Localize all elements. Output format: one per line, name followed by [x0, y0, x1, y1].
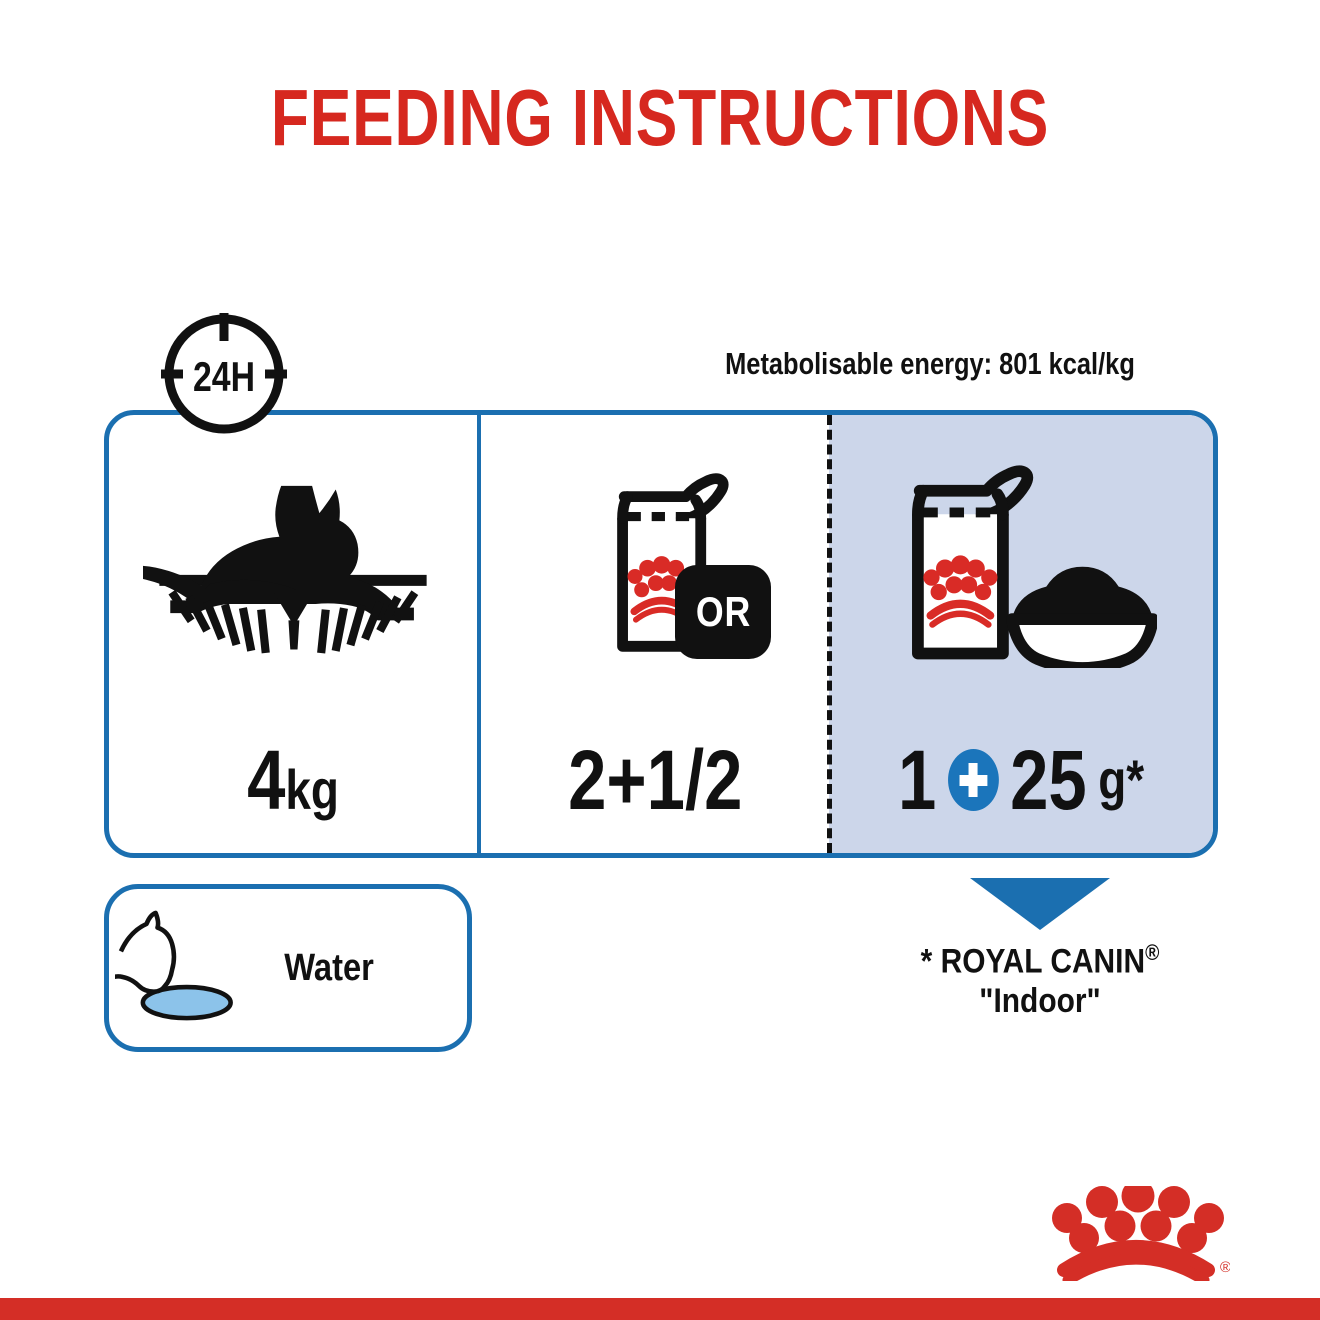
footnote-brand-text: * ROYAL CANIN: [921, 942, 1145, 980]
cat-on-scale-icon: [109, 439, 477, 689]
logo-registered-mark: ®: [1220, 1259, 1230, 1276]
pouch-plus-dry-value: 1 25g*: [898, 738, 1144, 822]
column-pouch-only: 2+1/2: [477, 415, 829, 853]
cat-weight-unit: kg: [285, 758, 339, 821]
wet-food-pouch-and-bowl-icon: [829, 439, 1213, 689]
feeding-table: 4kg: [104, 410, 1218, 858]
footnote-product-line: "Indoor": [864, 981, 1216, 1021]
dry-unit: g*: [1098, 752, 1144, 808]
clock-24h-label: 24H: [193, 353, 255, 400]
pouch-count: 1: [898, 738, 936, 822]
column-divider-dashed: [827, 415, 832, 853]
down-arrow-icon: [970, 878, 1110, 930]
page-title: FEEDING INSTRUCTIONS: [145, 72, 1175, 164]
footnote-brand-line: * ROYAL CANIN®: [864, 940, 1216, 981]
column-cat-weight: 4kg: [109, 415, 477, 853]
water-label: Water: [284, 947, 374, 990]
footnote: * ROYAL CANIN® "Indoor": [840, 878, 1240, 1022]
feeding-instructions-panel: FEEDING INSTRUCTIONS 24H Metabolisable e…: [0, 0, 1320, 1320]
clock-24h-icon: 24H: [157, 307, 291, 441]
cat-weight-value: 4kg: [247, 738, 339, 822]
pouch-only-value: 2+1/2: [568, 738, 742, 822]
plus-circle-icon: [948, 749, 999, 811]
pouch-plus-dry-value-wrap: 1 25g*: [829, 725, 1213, 835]
royal-canin-crown-logo: ®: [1040, 1186, 1230, 1281]
water-note: Water: [104, 884, 472, 1052]
or-badge: OR: [675, 565, 771, 659]
metabolisable-energy-label: Metabolisable energy: 801 kcal/kg: [676, 346, 1184, 382]
pouch-only-value-wrap: 2+1/2: [481, 725, 829, 835]
column-pouch-plus-dry: 1 25g*: [829, 415, 1213, 853]
wet-food-pouch-icon: [481, 439, 829, 689]
cat-weight-value-wrap: 4kg: [109, 725, 477, 835]
or-badge-label: OR: [695, 588, 750, 636]
cat-drinking-water-icon: [115, 902, 253, 1035]
bottom-accent-bar: [0, 1298, 1320, 1320]
registered-mark: ®: [1145, 940, 1159, 965]
cat-weight-number: 4: [247, 733, 285, 827]
dry-amount: 25: [1010, 738, 1087, 822]
